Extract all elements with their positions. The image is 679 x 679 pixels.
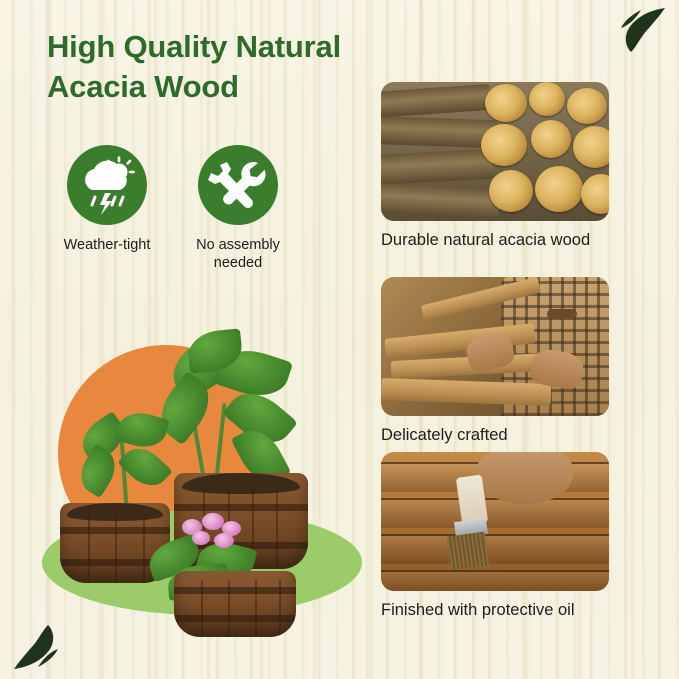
log-side: [381, 116, 497, 149]
barrel-hoop: [174, 504, 308, 511]
product-photo: [22, 325, 372, 645]
infographic-page: High Quality Natural Acacia Wood: [0, 0, 679, 679]
barrel-hoop: [174, 615, 296, 622]
page-title: High Quality Natural Acacia Wood: [47, 27, 377, 106]
violet-flower: [192, 531, 210, 545]
log-side: [381, 183, 500, 220]
log-end: [481, 124, 527, 166]
violet-flower: [202, 513, 224, 530]
feature-label: No assembly needed: [178, 236, 298, 272]
barrel-hoop: [174, 587, 296, 594]
log-end: [531, 120, 571, 158]
deck-board: [381, 498, 609, 528]
log-end: [567, 88, 607, 124]
photo-card-logs: Durable natural acacia wood: [381, 82, 609, 251]
feature-weather-tight: Weather-tight: [47, 145, 167, 254]
log-end: [485, 84, 527, 122]
stacked-acacia-logs-photo: [381, 82, 609, 221]
barrel-stave: [201, 580, 203, 637]
feature-badge-circle: [67, 145, 147, 225]
leaf-sprig-icon: [12, 621, 72, 671]
barrel-soil: [182, 473, 300, 494]
log-end: [529, 82, 565, 116]
barrel-stave: [115, 514, 117, 583]
barrel-stave: [255, 580, 257, 637]
brush-bristles: [447, 532, 489, 571]
feature-label: Weather-tight: [47, 236, 167, 254]
barrel-stave: [88, 514, 90, 583]
deck-board: [381, 534, 609, 564]
feature-badge-circle: [198, 145, 278, 225]
violet-flower: [214, 533, 234, 548]
barrel-stave: [228, 580, 230, 637]
wrist-watch: [547, 309, 577, 319]
cloud-rain-sun-icon: [67, 145, 147, 225]
barrel-stave: [279, 580, 281, 637]
craftsman-assembling-wood-photo: [381, 277, 609, 416]
feature-no-assembly: No assembly needed: [178, 145, 298, 272]
deck-board: [381, 570, 609, 591]
brush-applying-protective-oil-photo: [381, 452, 609, 591]
photo-caption: Durable natural acacia wood: [381, 230, 609, 251]
wrench-screwdriver-icon: [198, 145, 278, 225]
barrel-stave: [143, 514, 145, 583]
photo-caption: Finished with protective oil: [381, 600, 609, 621]
barrel-stave: [276, 486, 278, 569]
log-end: [573, 126, 609, 168]
photo-card-craft: Delicately crafted: [381, 277, 609, 446]
leaf-sprig-icon: [611, 6, 667, 54]
barrel-planter-front: [174, 571, 296, 637]
log-end: [535, 166, 583, 212]
photo-card-oil: Finished with protective oil: [381, 452, 609, 621]
log-end: [489, 170, 533, 212]
photo-caption: Delicately crafted: [381, 425, 609, 446]
